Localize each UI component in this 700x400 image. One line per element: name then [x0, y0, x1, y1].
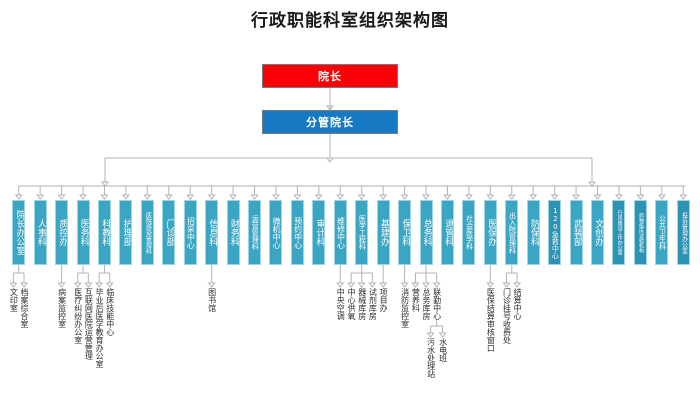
- node-label: 分管院长: [306, 114, 354, 130]
- department-node[interactable]: 120急救中心: [548, 200, 561, 265]
- department-label: 行风建设工作办公室: [616, 210, 621, 255]
- department-node[interactable]: 维修中心: [334, 200, 347, 265]
- page-title: 行政职能科室组织架构图: [0, 6, 700, 31]
- department-node[interactable]: 退管科: [441, 200, 454, 265]
- department-node[interactable]: 质控办: [55, 200, 68, 265]
- department-label: 120急救中心: [551, 207, 558, 259]
- department-node[interactable]: 出入院管理科: [505, 200, 518, 265]
- department-label: 护理部: [121, 219, 130, 246]
- department-label: 防保科: [529, 219, 538, 246]
- sub-department-label[interactable]: 门诊挂号收费处: [502, 288, 510, 344]
- sub-department-label[interactable]: 消防监控室: [401, 288, 409, 328]
- department-node[interactable]: 招采中心: [184, 200, 197, 265]
- sub-department-label[interactable]: 联勤中心: [433, 288, 441, 320]
- department-label: 文创办: [593, 219, 602, 246]
- sub-department-label[interactable]: 医疗纠纷办公室: [74, 288, 82, 344]
- sub-department-label[interactable]: 中心供氧: [347, 288, 355, 320]
- department-node[interactable]: 信息科: [205, 200, 218, 265]
- department-label: 社会医学科: [465, 215, 472, 250]
- department-label: 信息科: [207, 219, 216, 246]
- sub-department-label[interactable]: 文印室: [9, 288, 17, 312]
- department-node[interactable]: 医保办: [484, 200, 497, 265]
- department-node[interactable]: 人事科: [34, 200, 47, 265]
- department-label: 总务科: [421, 219, 430, 246]
- department-label: 医务科: [78, 219, 87, 246]
- sub-department-label[interactable]: 总务库房: [422, 288, 430, 320]
- department-node[interactable]: 文创办: [591, 200, 604, 265]
- sub-sub-department-label[interactable]: 水电班: [439, 338, 447, 362]
- department-label: 审计科: [314, 219, 323, 246]
- department-node[interactable]: 社会医学科: [462, 200, 475, 265]
- sub-department-label[interactable]: 结算中心: [513, 288, 521, 320]
- sub-department-label[interactable]: 临床技能中心: [106, 288, 114, 336]
- department-label: 招采中心: [186, 217, 194, 249]
- node-label: 院长: [318, 68, 342, 84]
- node-president[interactable]: 院长: [262, 64, 398, 88]
- department-label: 公共卫生科: [658, 215, 665, 250]
- department-node[interactable]: 运营管理科: [248, 200, 261, 265]
- sub-department-label[interactable]: 项目办: [379, 288, 387, 312]
- sub-sub-department-label[interactable]: 污水处理站: [427, 338, 435, 378]
- department-node[interactable]: 武装部: [570, 200, 583, 265]
- sub-department-label[interactable]: 毕业后医学教育办公室: [95, 288, 103, 368]
- sub-department-label[interactable]: 营养科: [411, 288, 419, 312]
- sub-department-label[interactable]: 试剂库房: [368, 288, 376, 320]
- department-label: 预约中心: [293, 217, 301, 249]
- sub-department-label[interactable]: 器械库房: [358, 288, 366, 320]
- department-node[interactable]: 预约中心: [291, 200, 304, 265]
- department-node[interactable]: 投诉管理办公室: [677, 200, 690, 265]
- department-node[interactable]: 药物临床试验机构: [634, 200, 647, 265]
- sub-department-label[interactable]: 档案综合室: [20, 288, 28, 328]
- department-label: 人事科: [35, 219, 44, 246]
- department-label: 出入院管理科: [508, 212, 515, 254]
- sub-department-label[interactable]: 中央空调: [336, 288, 344, 320]
- department-label: 保卫科: [400, 219, 409, 246]
- department-label: 运营管理科: [251, 215, 258, 250]
- sub-department-label[interactable]: 病案监控室: [58, 288, 66, 328]
- department-label: 医院感染管理科: [144, 212, 150, 254]
- department-node[interactable]: 防保科: [527, 200, 540, 265]
- department-label: 医保办: [486, 219, 495, 246]
- department-label: 武装部: [571, 219, 580, 246]
- department-label: 财务科: [228, 219, 237, 246]
- department-node[interactable]: 微机中心: [269, 200, 282, 265]
- sub-department-label[interactable]: 互联网医院运营管理: [84, 288, 92, 360]
- department-label: 科教科: [100, 219, 109, 246]
- department-node[interactable]: 审计科: [312, 200, 325, 265]
- node-vice-president[interactable]: 分管院长: [262, 110, 398, 134]
- department-label: 投诉管理办公室: [680, 212, 686, 254]
- department-label: 门诊部: [164, 219, 173, 246]
- department-label: 维修中心: [336, 217, 344, 249]
- department-node[interactable]: 科教科: [98, 200, 111, 265]
- department-node[interactable]: 护理部: [119, 200, 132, 265]
- sub-department-label[interactable]: 医保结算审核窗口: [486, 288, 494, 352]
- department-label: 退管科: [443, 219, 452, 246]
- department-label: 基建办: [378, 219, 387, 246]
- department-node[interactable]: 财务科: [227, 200, 240, 265]
- department-node[interactable]: 院长办公室: [12, 200, 25, 265]
- department-node[interactable]: 医务科: [77, 200, 90, 265]
- sub-department-label[interactable]: 图书馆: [208, 288, 216, 312]
- org-chart-canvas: 行政职能科室组织架构图 院长分管院长 院长办公室人事科质控办医务科科教科护理部医…: [0, 0, 700, 400]
- department-label: 医学工程科: [358, 215, 365, 250]
- department-node[interactable]: 医学工程科: [355, 200, 368, 265]
- department-label: 质控办: [57, 219, 66, 246]
- department-node[interactable]: 公共卫生科: [655, 200, 668, 265]
- department-node[interactable]: 门诊部: [162, 200, 175, 265]
- department-node[interactable]: 保卫科: [398, 200, 411, 265]
- department-label: 院长办公室: [14, 210, 23, 255]
- department-label: 药物临床试验机构: [638, 213, 643, 253]
- department-label: 微机中心: [272, 217, 280, 249]
- department-node[interactable]: 基建办: [377, 200, 390, 265]
- department-node[interactable]: 医院感染管理科: [141, 200, 154, 265]
- department-node[interactable]: 总务科: [420, 200, 433, 265]
- department-node[interactable]: 行风建设工作办公室: [612, 200, 625, 265]
